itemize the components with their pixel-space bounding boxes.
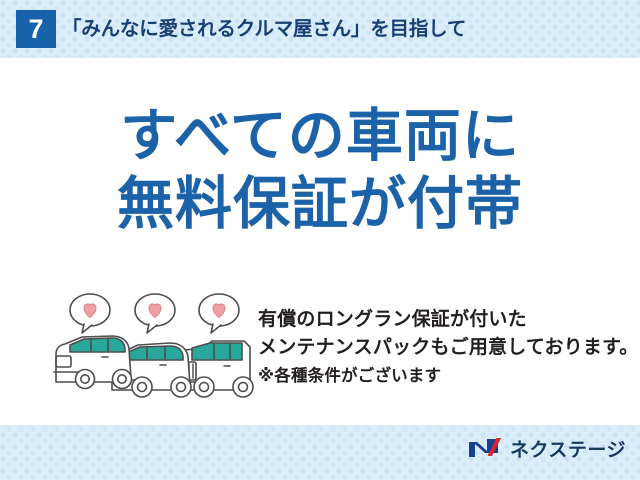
car-keivan-left — [54, 336, 132, 389]
header-title: 「みんなに愛されるクルマ屋さん」を目指して — [62, 12, 466, 46]
section-number-badge: 7 — [16, 10, 56, 48]
heart-bubble-center — [135, 294, 175, 333]
footer-band: ネクステージ — [0, 425, 640, 480]
three-cars-illustration — [52, 290, 257, 400]
advertisement-page: 7 「みんなに愛されるクルマ屋さん」を目指して すべての車両に 無料保証が付帯 — [0, 0, 640, 480]
body-copy-note: ※各種条件がございます — [258, 362, 630, 390]
heart-bubble-right — [199, 294, 239, 333]
headline-line-1: すべての車両に — [0, 102, 640, 170]
body-copy-line-2: メンテナンスパックもご用意しております。 — [258, 334, 630, 362]
nexstage-logo-icon — [468, 436, 502, 465]
page-title: すべての車両に 無料保証が付帯 — [0, 102, 640, 238]
body-copy: 有償のロングラン保証が付いた メンテナンスパックもご用意しております。 ※各種条… — [258, 306, 630, 390]
header-band: 7 「みんなに愛されるクルマ屋さん」を目指して — [0, 0, 640, 58]
headline-line-2: 無料保証が付帯 — [0, 170, 640, 238]
heart-bubble-left — [70, 294, 110, 333]
brand-name: ネクステージ — [510, 441, 626, 460]
body-copy-line-1: 有償のロングラン保証が付いた — [258, 306, 630, 334]
content-card: すべての車両に 無料保証が付帯 — [0, 58, 640, 425]
brand-lockup: ネクステージ — [468, 433, 626, 467]
